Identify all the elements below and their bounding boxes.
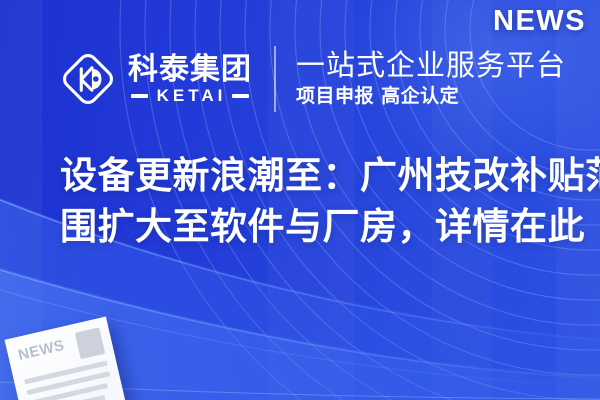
brand-wordmark: 科泰集团 KETAI [128, 54, 252, 105]
slogan-main: 一站式企业服务平台 [296, 49, 566, 82]
ketai-diamond-logo-icon [60, 51, 116, 107]
brand-name-en: KETAI [154, 87, 227, 104]
slogan-sub: 项目申报 高企认定 [296, 85, 566, 109]
vertical-divider [274, 46, 276, 112]
headline: 设备更新浪潮至：广州技改补贴范 围扩大至软件与厂房，详情在此 [60, 150, 572, 252]
headline-line-1: 设备更新浪潮至：广州技改补贴范 [60, 150, 572, 201]
news-banner: NEWS 科泰集团 KETAI 一站式企业服务平台 项目申报 高企认定 [0, 0, 600, 400]
dash-left-icon [131, 94, 148, 98]
newspaper-title: NEWS [16, 336, 66, 363]
slogan-block: 一站式企业服务平台 项目申报 高企认定 [296, 49, 566, 109]
brand-header: 科泰集团 KETAI 一站式企业服务平台 项目申报 高企认定 [60, 42, 566, 116]
brand-name-cn: 科泰集团 [128, 54, 252, 86]
news-badge: NEWS [493, 7, 586, 36]
headline-line-2: 围扩大至软件与厂房，详情在此 [60, 201, 572, 252]
brand-name-en-row: KETAI [131, 87, 250, 104]
article-thumbnail [75, 327, 105, 359]
dash-right-icon [232, 94, 249, 98]
